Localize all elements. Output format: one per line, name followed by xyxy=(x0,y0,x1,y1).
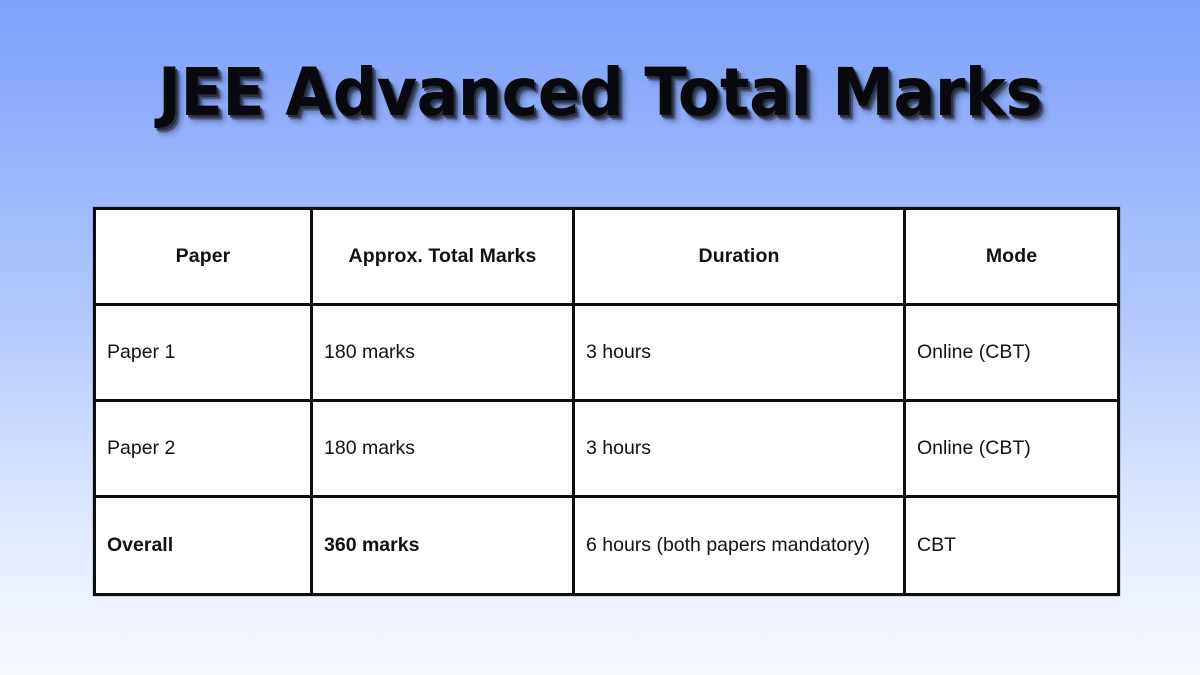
title-container: JEE Advanced Total Marks xyxy=(0,58,1200,123)
table-row: Paper 1 180 marks 3 hours Online (CBT) xyxy=(95,305,1119,401)
cell-mode: Online (CBT) xyxy=(905,305,1119,401)
cell-mode: Online (CBT) xyxy=(905,401,1119,497)
cell-marks: 180 marks xyxy=(312,305,574,401)
page-title: JEE Advanced Total Marks xyxy=(158,58,1042,127)
column-header-paper: Paper xyxy=(95,209,312,305)
table-row-total: Overall 360 marks 6 hours (both papers m… xyxy=(95,497,1119,595)
cell-paper: Paper 2 xyxy=(95,401,312,497)
table-body: Paper 1 180 marks 3 hours Online (CBT) P… xyxy=(95,305,1119,595)
cell-paper: Paper 1 xyxy=(95,305,312,401)
table-header-row: Paper Approx. Total Marks Duration Mode xyxy=(95,209,1119,305)
column-header-duration: Duration xyxy=(574,209,905,305)
cell-duration: 3 hours xyxy=(574,401,905,497)
column-header-mode: Mode xyxy=(905,209,1119,305)
cell-marks: 360 marks xyxy=(312,497,574,595)
cell-duration: 6 hours (both papers mandatory) xyxy=(574,497,905,595)
table-row: Paper 2 180 marks 3 hours Online (CBT) xyxy=(95,401,1119,497)
column-header-marks: Approx. Total Marks xyxy=(312,209,574,305)
jee-advanced-total-marks-table: Paper Approx. Total Marks Duration Mode … xyxy=(93,207,1120,596)
cell-duration: 3 hours xyxy=(574,305,905,401)
table-header: Paper Approx. Total Marks Duration Mode xyxy=(95,209,1119,305)
cell-paper: Overall xyxy=(95,497,312,595)
cell-marks: 180 marks xyxy=(312,401,574,497)
cell-mode: CBT xyxy=(905,497,1119,595)
